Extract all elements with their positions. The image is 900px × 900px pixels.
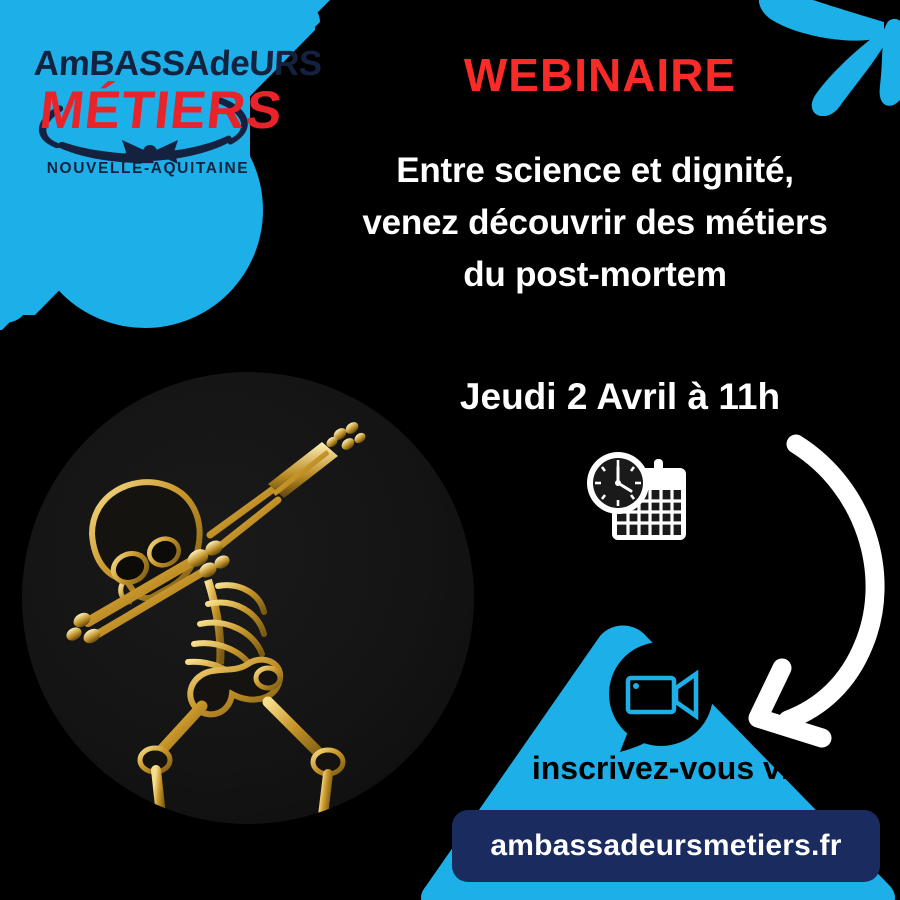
- dabbing-skeleton-illustration: [22, 372, 474, 824]
- headline-line-3: du post-mortem: [290, 249, 900, 301]
- skeleton-photo: [22, 372, 474, 824]
- event-datetime: Jeudi 2 Avril à 11h: [420, 376, 820, 418]
- kicker-webinaire: WEBINAIRE: [330, 48, 870, 102]
- website-url-button[interactable]: ambassadeursmetiers.fr: [452, 810, 880, 882]
- headline: Entre science et dignité, venez découvri…: [290, 145, 900, 301]
- logo-line-metiers: MÉTIERS: [37, 80, 286, 141]
- website-url-label: ambassadeursmetiers.fr: [490, 829, 841, 863]
- logo-line-region: NOUVELLE-AQUITAINE: [38, 160, 258, 178]
- webinar-poster: AmBASSAdeURS MÉTIERS NOUVELLE-AQUITAINE …: [0, 0, 900, 900]
- brand-logo: AmBASSAdeURS MÉTIERS NOUVELLE-AQUITAINE: [26, 38, 266, 198]
- headline-line-2: venez découvrir des métiers: [290, 197, 900, 249]
- headline-line-1: Entre science et dignité,: [290, 145, 900, 197]
- curved-arrow-icon: [716, 426, 900, 756]
- video-bubble[interactable]: [600, 640, 722, 762]
- logo-line-ambassadeurs: AmBASSAdeURS: [33, 44, 265, 84]
- cta-prompt: inscrivez-vous vite: [440, 750, 900, 787]
- calendar-clock-icon: [578, 446, 698, 548]
